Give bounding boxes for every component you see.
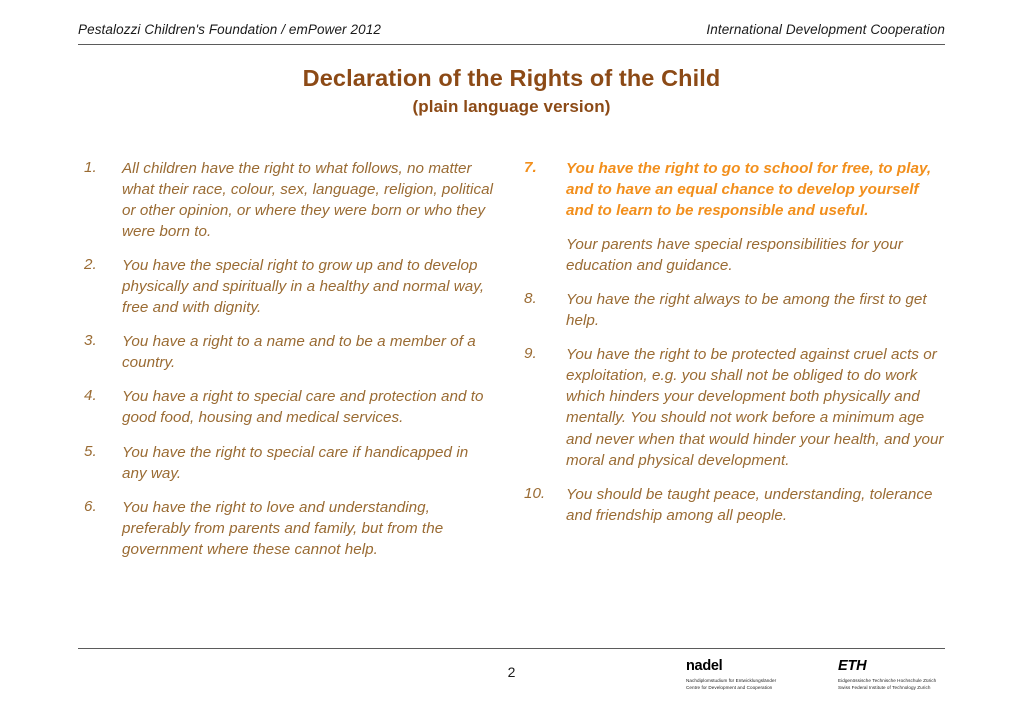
- list-item-number: 8.: [524, 289, 566, 310]
- list-item-number: 2.: [84, 255, 122, 276]
- list-subitem: Your parents have special responsibiliti…: [524, 234, 944, 276]
- content-columns: 1. All children have the right to what f…: [0, 158, 1023, 628]
- list-item-number: 6.: [84, 497, 122, 518]
- list-item-number: 1.: [84, 158, 122, 179]
- eth-wordmark: ETH: [838, 659, 936, 674]
- list-item-text: You should be taught peace, understandin…: [566, 484, 944, 526]
- list-item-text: You have the right to love and understan…: [122, 497, 496, 560]
- eth-logo: ETH Eidgenössische Technische Hochschule…: [838, 659, 936, 691]
- right-column: 7. You have the right to go to school fo…: [524, 158, 944, 539]
- list-item-number: 10.: [524, 484, 566, 505]
- list-item: 6. You have the right to love and unders…: [84, 497, 496, 560]
- list-item-text: All children have the right to what foll…: [122, 158, 496, 242]
- list-item: 3. You have a right to a name and to be …: [84, 331, 496, 373]
- header-left-text: Pestalozzi Children's Foundation / emPow…: [78, 22, 381, 37]
- nadel-subtitle-en: Centre for Development and Cooperation: [686, 684, 776, 691]
- header-right-text: International Development Cooperation: [706, 22, 945, 37]
- list-item-text: You have the right always to be among th…: [566, 289, 944, 331]
- page-title: Declaration of the Rights of the Child: [0, 66, 1023, 92]
- list-item-number: 3.: [84, 331, 122, 352]
- eth-subtitle-en: Swiss Federal Institute of Technology Zu…: [838, 684, 936, 691]
- nadel-wordmark: nadel: [686, 659, 776, 674]
- list-item-text: You have the right to go to school for f…: [566, 158, 944, 221]
- list-item-text: You have the special right to grow up an…: [122, 255, 496, 318]
- list-item-highlighted: 7. You have the right to go to school fo…: [524, 158, 944, 221]
- page-subtitle: (plain language version): [0, 97, 1023, 117]
- list-item-text: You have a right to special care and pro…: [122, 386, 496, 428]
- page-header: Pestalozzi Children's Foundation / emPow…: [78, 22, 945, 42]
- list-item: 2. You have the special right to grow up…: [84, 255, 496, 318]
- list-item-number: 7.: [524, 158, 566, 179]
- list-item-number: 9.: [524, 344, 566, 365]
- list-item: 1. All children have the right to what f…: [84, 158, 496, 242]
- list-item-text: You have a right to a name and to be a m…: [122, 331, 496, 373]
- eth-subtitle-de: Eidgenössische Technische Hochschule Zür…: [838, 677, 936, 684]
- nadel-logo: nadel Nachdiplomstudium für Entwicklungs…: [686, 659, 776, 691]
- header-divider: [78, 44, 945, 45]
- list-item: 9. You have the right to be protected ag…: [524, 344, 944, 470]
- footer-divider: [78, 648, 945, 649]
- title-block: Declaration of the Rights of the Child (…: [0, 66, 1023, 117]
- left-column: 1. All children have the right to what f…: [84, 158, 496, 573]
- nadel-subtitle-de: Nachdiplomstudium für Entwicklungsländer: [686, 677, 776, 684]
- footer-logos: nadel Nachdiplomstudium für Entwicklungs…: [686, 659, 956, 693]
- list-item: 5. You have the right to special care if…: [84, 442, 496, 484]
- list-item: 10. You should be taught peace, understa…: [524, 484, 944, 526]
- list-item: 4. You have a right to special care and …: [84, 386, 496, 428]
- list-item-text: You have the right to special care if ha…: [122, 442, 496, 484]
- list-item-number: 5.: [84, 442, 122, 463]
- list-item-number: 4.: [84, 386, 122, 407]
- list-subitem-text: Your parents have special responsibiliti…: [566, 234, 944, 276]
- list-item-text: You have the right to be protected again…: [566, 344, 944, 470]
- list-item: 8. You have the right always to be among…: [524, 289, 944, 331]
